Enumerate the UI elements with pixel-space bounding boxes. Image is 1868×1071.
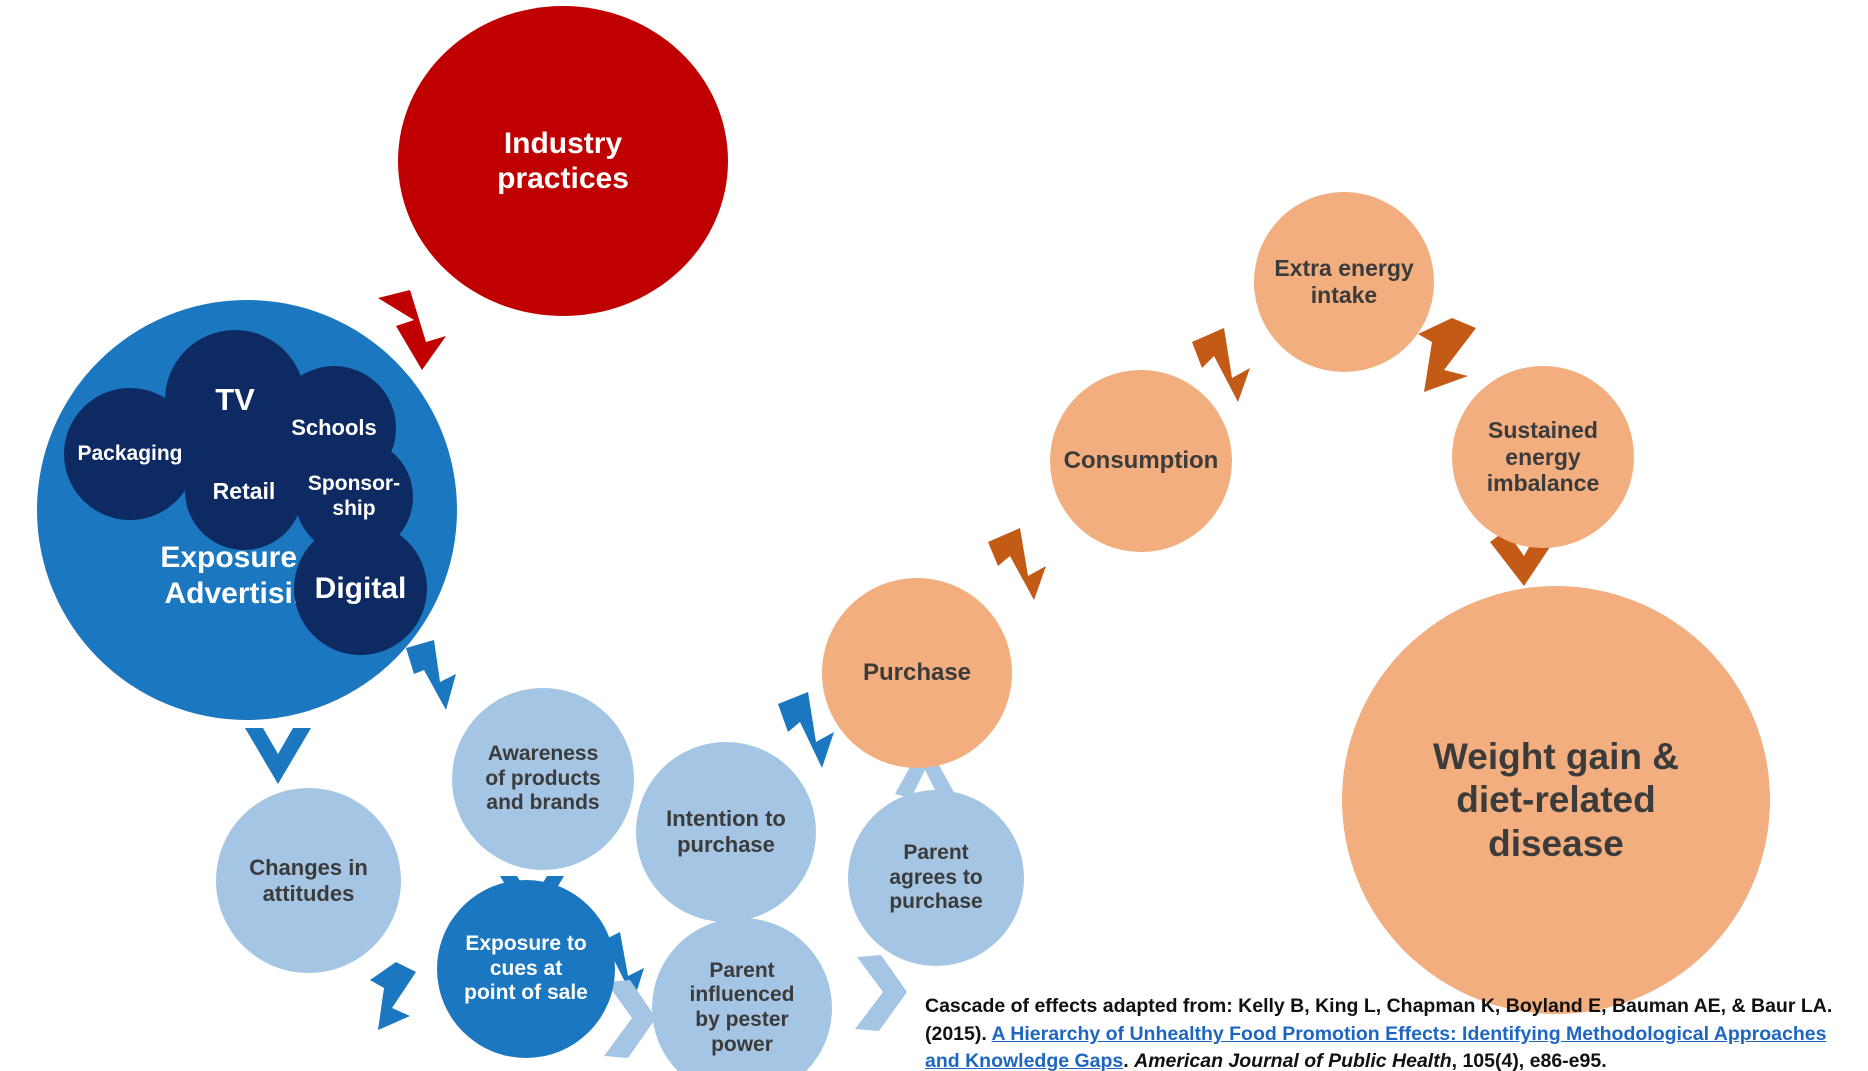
node-awareness-of-products[interactable]: Awareness of products and brands bbox=[452, 688, 634, 870]
citation-line1: Cascade of effects adapted from: Kelly B… bbox=[925, 995, 1832, 1017]
node-extra-energy-intake[interactable]: Extra energy intake bbox=[1254, 192, 1434, 372]
arrow-purchase-to-consumption-icon bbox=[988, 528, 1056, 600]
node-intention-to-purchase[interactable]: Intention to purchase bbox=[636, 742, 816, 922]
citation-block: Cascade of effects adapted from: Kelly B… bbox=[925, 993, 1850, 1071]
node-industry-practices[interactable]: Industry practices bbox=[398, 6, 728, 316]
arrow-exposure-to-attitudes-icon bbox=[245, 728, 311, 788]
node-channel-digital[interactable]: Digital bbox=[294, 522, 427, 655]
arrow-exposure-to-awareness-icon bbox=[406, 640, 468, 710]
node-exposure-to-cues[interactable]: Exposure to cues at point of sale bbox=[437, 880, 615, 1058]
arrow-pester-to-parent-agrees-icon bbox=[855, 955, 917, 1031]
diagram-canvas: Industry practices Exposure to Advertisi… bbox=[0, 0, 1868, 1071]
arrow-consumption-to-intake-icon bbox=[1192, 328, 1260, 402]
node-consumption[interactable]: Consumption bbox=[1050, 370, 1232, 552]
node-channel-packaging[interactable]: Packaging bbox=[64, 388, 196, 520]
node-weight-gain-disease[interactable]: Weight gain & diet-related disease bbox=[1342, 586, 1770, 1014]
citation-journal: American Journal of Public Health bbox=[1134, 1050, 1451, 1071]
node-purchase[interactable]: Purchase bbox=[822, 578, 1012, 768]
node-changes-in-attitudes[interactable]: Changes in attitudes bbox=[216, 788, 401, 973]
node-sustained-energy-imbalance[interactable]: Sustained energy imbalance bbox=[1452, 366, 1634, 548]
citation-link-period: . bbox=[1123, 1050, 1134, 1071]
node-parent-influenced-pester[interactable]: Parent influenced by pester power bbox=[652, 918, 832, 1071]
citation-volume-pages: , 105(4), e86-e95. bbox=[1452, 1050, 1607, 1071]
citation-year: (2015). bbox=[925, 1023, 991, 1045]
node-channel-retail[interactable]: Retail bbox=[185, 432, 303, 550]
arrow-intake-to-imbalance-icon bbox=[1418, 318, 1486, 392]
arrow-attitudes-to-cues-icon bbox=[370, 962, 436, 1030]
node-parent-agrees-to-purchase[interactable]: Parent agrees to purchase bbox=[848, 790, 1024, 966]
